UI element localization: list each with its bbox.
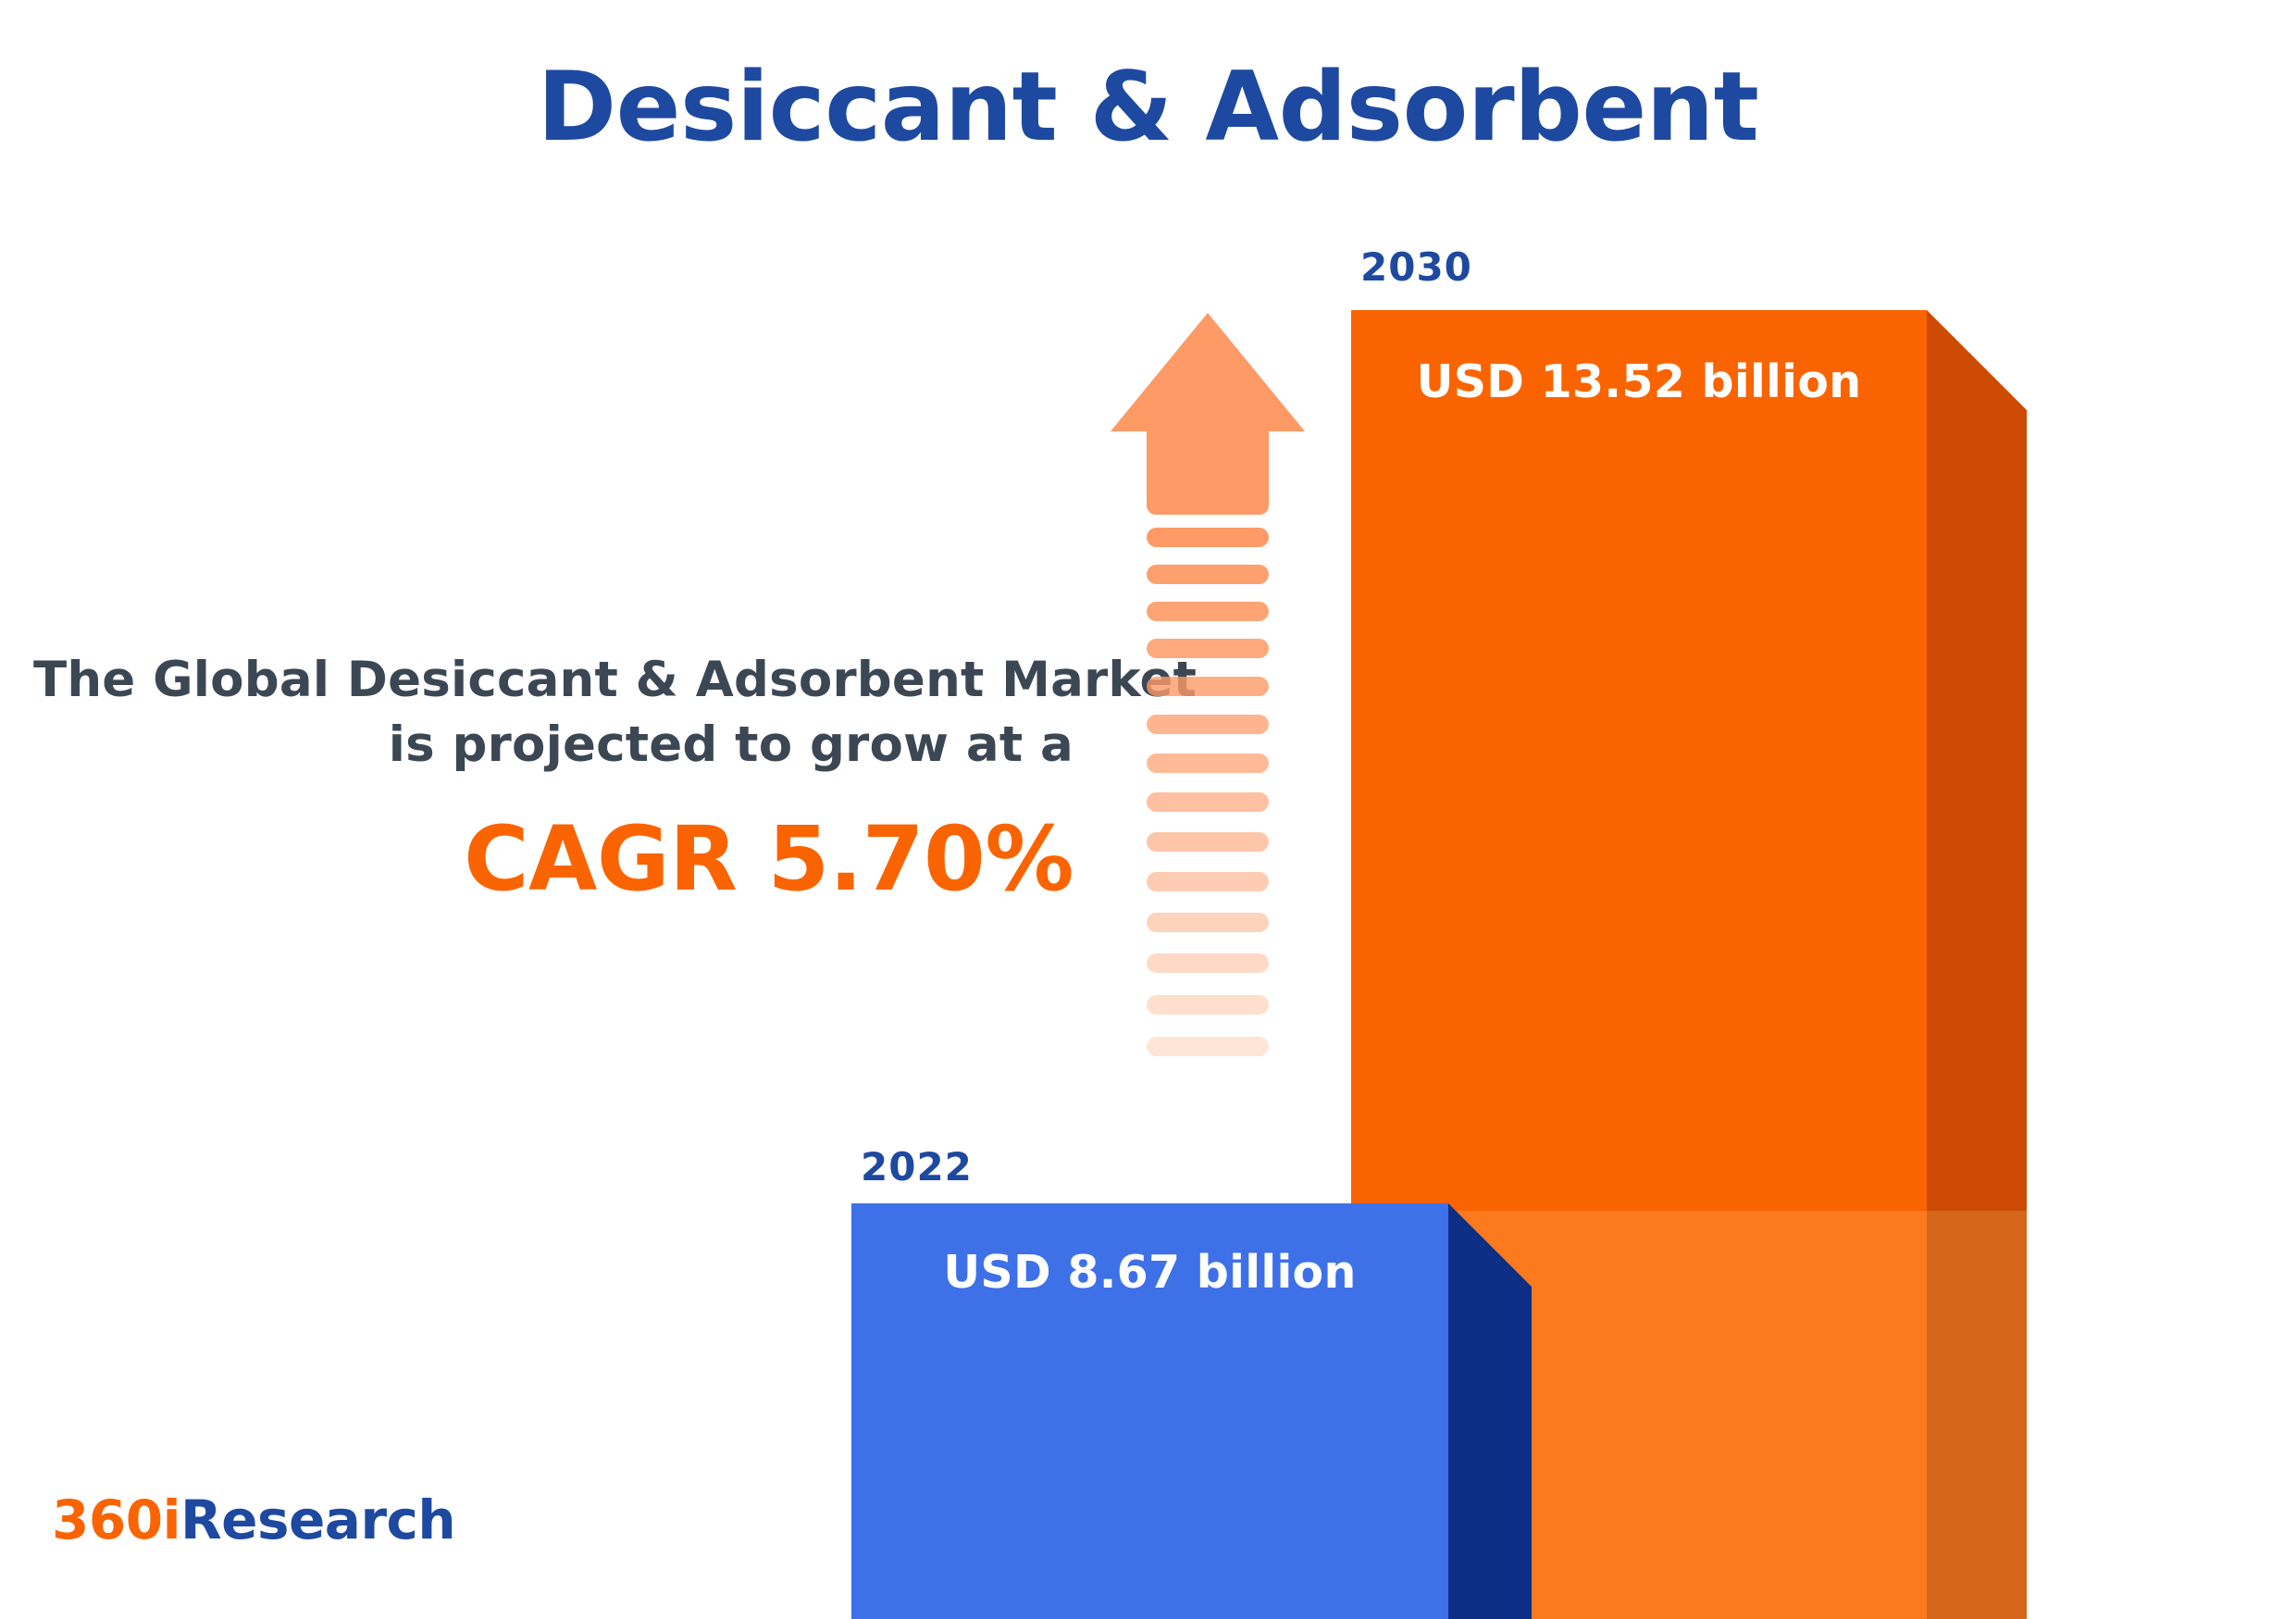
forecast-year-label: 2030 (1360, 244, 1472, 290)
forecast-value-label: USD 13.52 billion (1351, 355, 1927, 408)
logo-research: Research (180, 1488, 455, 1551)
forecast-bar-side-face (1927, 310, 2027, 1211)
bar-chart: 2030 2022 USD 13.52 billion USD 8.67 bil… (0, 0, 2296, 1619)
base-year-value-label: USD 8.67 billion (851, 1246, 1448, 1299)
forecast-bar-base-side-face (1927, 1211, 2027, 1619)
brand-logo: 360iResearch (52, 1488, 455, 1551)
infographic-canvas: Desiccant & Adsorbent The Global Desicca… (0, 0, 2296, 1619)
base-year-label: 2022 (861, 1144, 973, 1189)
forecast-bar-front-face (1351, 310, 1927, 1211)
logo-360i: 360i (52, 1488, 180, 1551)
